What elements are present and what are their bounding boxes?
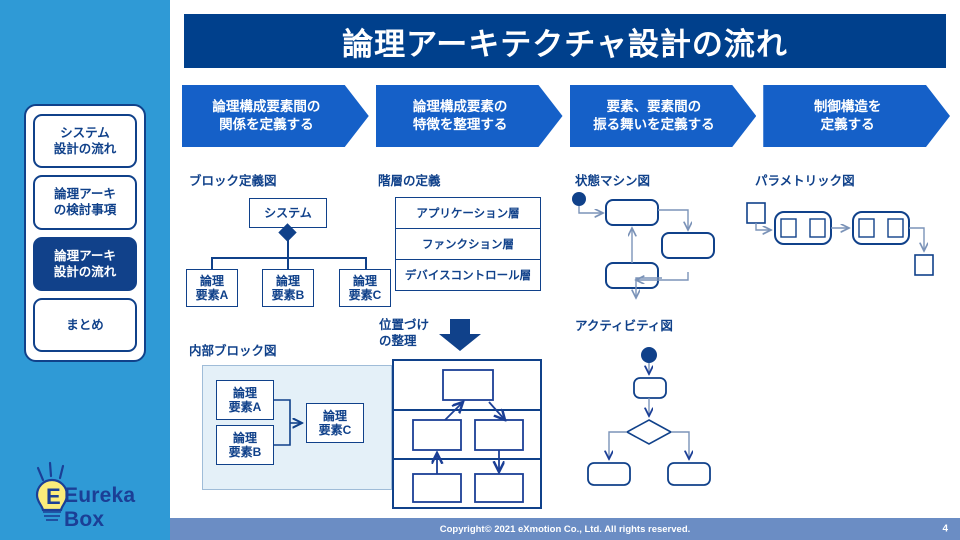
layer-application: アプリケーション層 xyxy=(395,197,541,229)
pos-box-mid-left xyxy=(413,420,461,450)
positioning-graphics xyxy=(375,358,555,510)
param-port-1 xyxy=(781,219,796,237)
activity-branch-right xyxy=(668,463,710,485)
activity-branch-left xyxy=(588,463,630,485)
block-definition-diagram: ブロック定義図 システム 論理 要素A 論理 要素B 論理 要素C xyxy=(186,170,386,315)
state-machine-diagram: 状態マシン図 xyxy=(570,170,750,310)
param-port-2 xyxy=(810,219,825,237)
parametric-graphics xyxy=(745,170,945,300)
sidebar-item-logical-arch-design-flow[interactable]: 論理アーキ 設計の流れ xyxy=(33,237,137,291)
positioning-arrangement: 位置づけ の整理 xyxy=(375,315,555,510)
sidebar-item-system-flow[interactable]: システム 設計の流れ xyxy=(33,114,137,168)
process-steps: 論理構成要素間の 関係を定義する 論理構成要素の 特徴を整理する 要素、要素間の… xyxy=(182,85,950,147)
pos-box-mid-right xyxy=(475,420,523,450)
hierarchy-title: 階層の定義 xyxy=(378,170,441,189)
internal-block-diagram: 内部ブロック図 論理 要素A 論理 要素B 論理 要素C xyxy=(186,340,396,500)
bdd-drop-1 xyxy=(211,257,213,269)
step-3[interactable]: 要素、要素間の 振る舞いを定義する xyxy=(570,85,757,147)
slide-canvas: 論理アーキテクチャ設計の流れ 論理構成要素間の 関係を定義する 論理構成要素の … xyxy=(170,0,960,540)
bdd-drop-2 xyxy=(287,257,289,269)
pos-box-top xyxy=(443,370,493,400)
ibd-connectors xyxy=(186,340,396,500)
sidebar-nav: システム 設計の流れ 論理アーキ の検討事項 論理アーキ 設計の流れ まとめ xyxy=(24,104,146,362)
bdd-child-b: 論理 要素B xyxy=(262,269,314,307)
activity-diagram: アクティビティ図 xyxy=(570,315,750,495)
activity-action xyxy=(634,378,666,398)
bdd-title: ブロック定義図 xyxy=(189,170,277,189)
initial-node xyxy=(572,192,586,206)
layer-device-control: デバイスコントロール層 xyxy=(395,259,541,291)
down-arrow-icon xyxy=(437,317,483,353)
left-rail: システム 設計の流れ 論理アーキ の検討事項 論理アーキ 設計の流れ まとめ E xyxy=(0,0,170,540)
activity-initial-node xyxy=(641,347,657,363)
pos-box-bottom-left xyxy=(413,474,461,502)
sidebar-item-summary[interactable]: まとめ xyxy=(33,298,137,352)
slide: システム 設計の流れ 論理アーキ の検討事項 論理アーキ 設計の流れ まとめ E xyxy=(0,0,960,540)
bdd-stem xyxy=(287,240,289,258)
page-title: 論理アーキテクチャ設計の流れ xyxy=(184,14,946,68)
bdd-child-a: 論理 要素A xyxy=(186,269,238,307)
step-4[interactable]: 制御構造を 定義する xyxy=(763,85,950,147)
step-2[interactable]: 論理構成要素の 特徴を整理する xyxy=(376,85,563,147)
state-machine-graphics xyxy=(570,170,750,310)
pos-box-bottom-right xyxy=(475,474,523,502)
step-1[interactable]: 論理構成要素間の 関係を定義する xyxy=(182,85,369,147)
activity-graphics xyxy=(570,315,750,495)
sidebar-item-logical-arch-considerations[interactable]: 論理アーキ の検討事項 xyxy=(33,175,137,229)
param-output xyxy=(915,255,933,275)
param-input xyxy=(747,203,765,223)
decision-diamond xyxy=(627,420,671,444)
logo-text: Eureka Box xyxy=(64,484,168,532)
page-number: 4 xyxy=(942,524,948,535)
state-2 xyxy=(662,233,714,258)
footer-copyright: Copyright© 2021 eXmotion Co., Ltd. All r… xyxy=(440,524,691,535)
logo-letter: E xyxy=(46,484,61,509)
bdd-drop-3 xyxy=(365,257,367,269)
positioning-title: 位置づけ の整理 xyxy=(379,317,429,349)
param-port-4 xyxy=(888,219,903,237)
logo: E Eureka Box xyxy=(18,458,168,530)
layer-function: ファンクション層 xyxy=(395,228,541,260)
hierarchy-definition: 階層の定義 アプリケーション層 ファンクション層 デバイスコントロール層 xyxy=(375,170,545,310)
state-1 xyxy=(606,200,658,225)
parametric-diagram: パラメトリック図 xyxy=(745,170,945,300)
state-3 xyxy=(606,263,658,288)
footer: Copyright© 2021 eXmotion Co., Ltd. All r… xyxy=(170,518,960,540)
param-port-3 xyxy=(859,219,874,237)
